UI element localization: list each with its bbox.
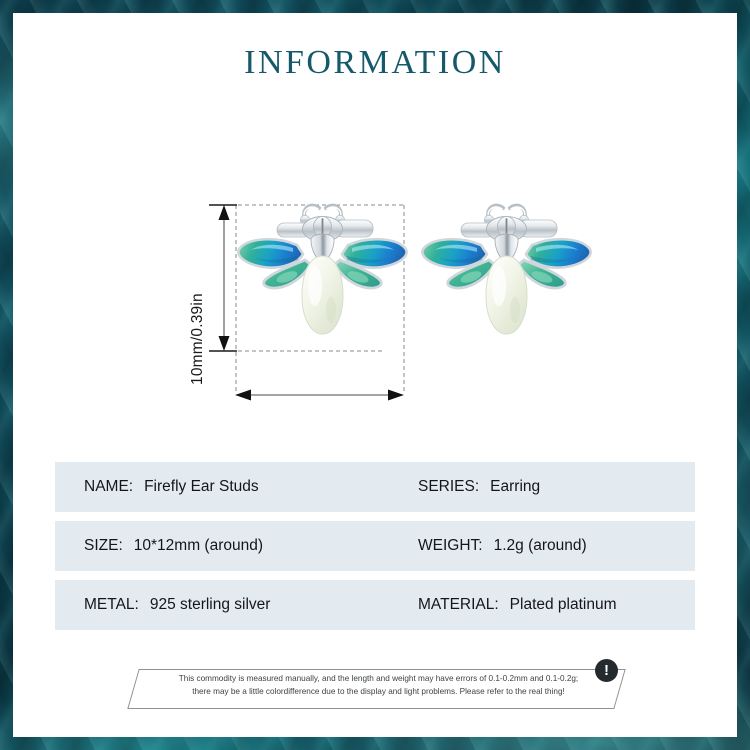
content-card: INFORMATION 10mm/0.39in — [13, 13, 737, 737]
disclaimer-line-2: there may be a little colordifference du… — [151, 686, 606, 699]
product-dimension-figure: 10mm/0.39in 12mm/0.47in — [13, 163, 737, 453]
dimension-height-label: 10mm/0.39in — [189, 293, 207, 385]
table-row: NAME: Firefly Ear Studs SERIES: Earring — [55, 462, 695, 512]
spec-label-material: MATERIAL: — [418, 596, 499, 614]
spec-value-weight: 1.2g (around) — [494, 537, 587, 555]
spec-cell-series: SERIES: Earring — [418, 462, 540, 512]
page-title: INFORMATION — [13, 44, 737, 82]
spec-cell-material: MATERIAL: Plated platinum — [418, 580, 617, 630]
earring-image-right — [419, 198, 594, 348]
table-row: SIZE: 10*12mm (around) WEIGHT: 1.2g (aro… — [55, 521, 695, 571]
spec-label-metal: METAL: — [84, 596, 139, 614]
spec-value-metal: 925 sterling silver — [150, 596, 271, 614]
earring-image-left — [235, 198, 410, 348]
table-row: METAL: 925 sterling silver MATERIAL: Pla… — [55, 580, 695, 630]
disclaimer-banner: This commodity is measured manually, and… — [123, 655, 633, 715]
spec-cell-size: SIZE: 10*12mm (around) — [84, 521, 263, 571]
poster-frame: INFORMATION 10mm/0.39in — [0, 0, 750, 750]
spec-label-size: SIZE: — [84, 537, 123, 555]
spec-label-name: NAME: — [84, 478, 133, 496]
disclaimer-line-1: This commodity is measured manually, and… — [151, 673, 606, 686]
spec-value-material: Plated platinum — [510, 596, 617, 614]
spec-label-series: SERIES: — [418, 478, 479, 496]
disclaimer-text: This commodity is measured manually, and… — [151, 673, 606, 698]
spec-value-series: Earring — [490, 478, 540, 496]
spec-label-weight: WEIGHT: — [418, 537, 483, 555]
specification-table: NAME: Firefly Ear Studs SERIES: Earring … — [55, 462, 695, 639]
spec-cell-metal: METAL: 925 sterling silver — [84, 580, 270, 630]
spec-value-size: 10*12mm (around) — [134, 537, 263, 555]
exclamation-icon: ! — [595, 659, 618, 682]
spec-cell-weight: WEIGHT: 1.2g (around) — [418, 521, 587, 571]
spec-cell-name: NAME: Firefly Ear Studs — [84, 462, 259, 512]
spec-value-name: Firefly Ear Studs — [144, 478, 259, 496]
